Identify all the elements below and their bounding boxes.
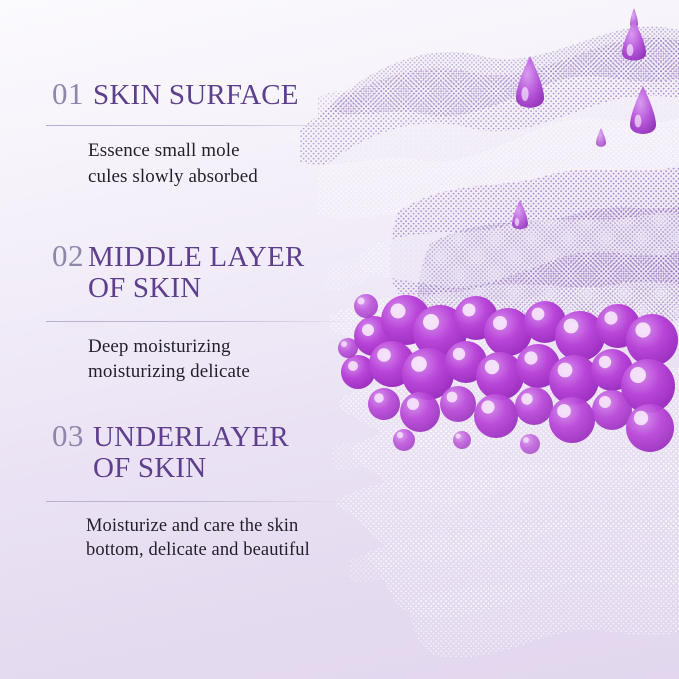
section-03-body: Moisturize and care the skin bottom, del… (0, 514, 380, 564)
section-01-body: Essence small mole cules slowly absorbed (0, 138, 380, 189)
section-03: 03 UNDERLAYER OF SKIN Moisturize and car… (0, 420, 380, 563)
section-02-body-line2: moisturizing delicate (88, 359, 380, 384)
skincare-infographic-poster: 01 SKIN SURFACE Essence small mole cules… (0, 0, 679, 679)
section-01-heading: 01 SKIN SURFACE (0, 78, 380, 111)
section-01-body-line1: Essence small mole (88, 138, 380, 163)
section-02: 02 MIDDLE LAYER OF SKIN Deep moisturizin… (0, 240, 380, 385)
section-03-title-line1: UNDERLAYER (93, 421, 289, 453)
section-03-body-line2: bottom, delicate and beautiful (86, 538, 380, 563)
section-02-body-line1: Deep moisturizing (88, 334, 380, 359)
section-02-title: MIDDLE LAYER OF SKIN (88, 242, 304, 305)
section-02-number: 02 (52, 240, 84, 271)
section-01-title: SKIN SURFACE (93, 80, 299, 111)
section-03-title: UNDERLAYER OF SKIN (93, 422, 289, 485)
text-column: 01 SKIN SURFACE Essence small mole cules… (0, 0, 380, 679)
section-02-divider (46, 321, 355, 322)
section-01: 01 SKIN SURFACE Essence small mole cules… (0, 78, 380, 189)
section-01-title-line1: SKIN SURFACE (93, 79, 299, 111)
section-02-body: Deep moisturizing moisturizing delicate (0, 334, 380, 385)
section-01-body-line2: cules slowly absorbed (88, 164, 380, 189)
section-02-title-line1: MIDDLE LAYER (88, 241, 304, 273)
section-01-divider (46, 125, 355, 126)
droplet-cluster (338, 294, 678, 454)
section-02-heading: 02 MIDDLE LAYER OF SKIN (0, 240, 380, 305)
section-03-number: 03 (52, 420, 84, 451)
falling-droplets (512, 8, 656, 229)
section-03-heading: 03 UNDERLAYER OF SKIN (0, 420, 380, 485)
section-03-title-line2: OF SKIN (93, 453, 289, 484)
section-03-body-line1: Moisturize and care the skin (86, 514, 380, 539)
section-03-divider (46, 501, 355, 502)
section-02-title-line2: OF SKIN (88, 273, 304, 304)
section-01-number: 01 (52, 78, 84, 109)
